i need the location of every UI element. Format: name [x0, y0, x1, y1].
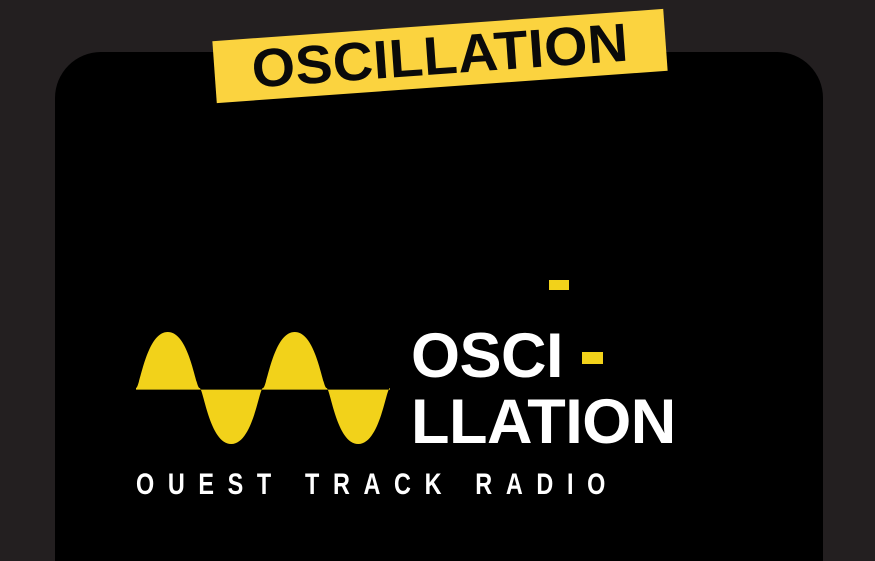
- wordmark-line-2: LLATION: [411, 392, 676, 453]
- yellow-dash-accent: [549, 280, 569, 290]
- wordmark-text-osci: OSCI: [411, 326, 563, 387]
- wordmark-text-llation: LLATION: [411, 392, 676, 453]
- yellow-hyphen-accent: [582, 352, 603, 364]
- wordmark: OSCI LLATION: [409, 276, 729, 451]
- wordmark-line-1: OSCI: [411, 326, 603, 387]
- tagline: OUEST TRACK RADIO: [136, 470, 596, 500]
- poster-canvas: OSCILLATION OSCI LLATION OUEST TRACK RAD…: [0, 0, 875, 561]
- sine-wave-icon: [136, 328, 390, 448]
